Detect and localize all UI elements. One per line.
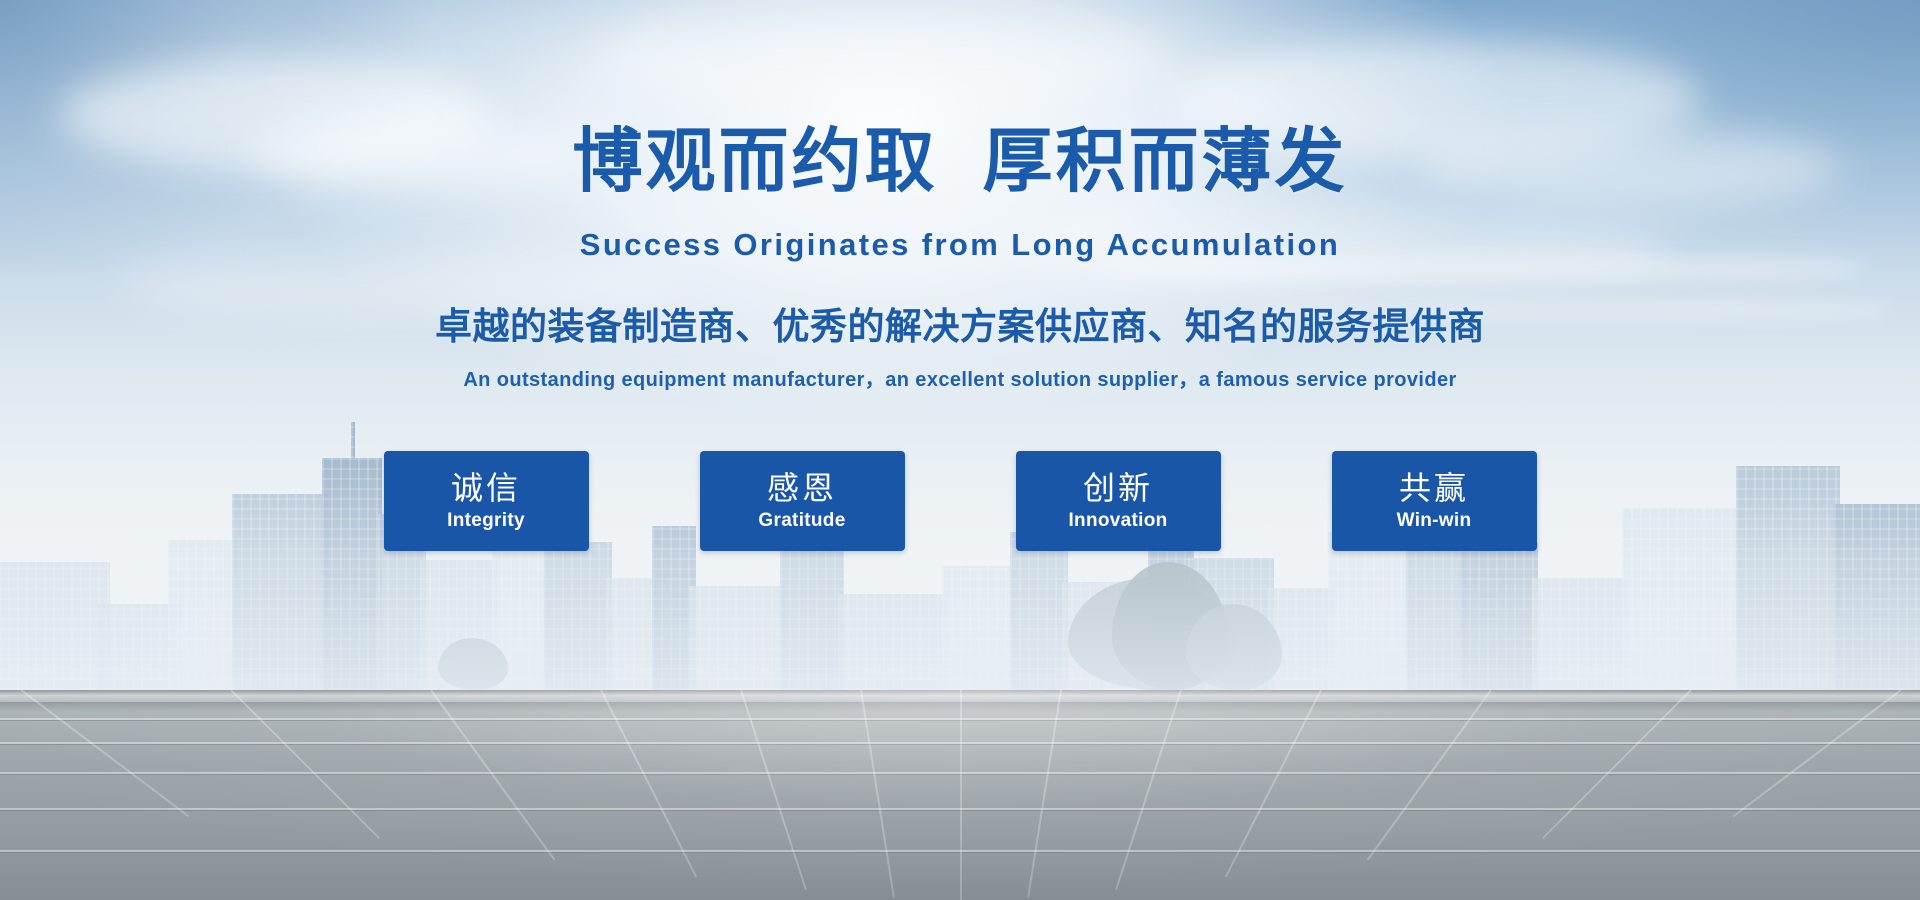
banner-subheadline-en: An outstanding equipment manufacturer，an… [0,370,1920,390]
value-card-label-cn: 创新 [1083,472,1153,504]
value-card-integrity[interactable]: 诚信 Integrity [384,451,589,551]
value-card-label-en: Win-win [1397,511,1472,530]
banner-content: 博观而约取 厚积而薄发 Success Originates from Long… [0,0,1920,900]
value-card-label-en: Innovation [1068,511,1167,530]
value-card-label-cn: 诚信 [451,472,521,504]
banner-subheadline-cn: 卓越的装备制造商、优秀的解决方案供应商、知名的服务提供商 [0,308,1920,345]
value-card-label-en: Gratitude [758,511,845,530]
value-card-winwin[interactable]: 共赢 Win-win [1332,451,1537,551]
value-card-label-en: Integrity [447,511,525,530]
value-card-label-cn: 感恩 [767,472,837,504]
hero-banner: 博观而约取 厚积而薄发 Success Originates from Long… [0,0,1920,900]
core-values-list: 诚信 Integrity 感恩 Gratitude 创新 Innovation … [0,451,1920,551]
banner-headline-cn: 博观而约取 厚积而薄发 [0,126,1920,196]
value-card-label-cn: 共赢 [1399,472,1469,504]
value-card-gratitude[interactable]: 感恩 Gratitude [700,451,905,551]
value-card-innovation[interactable]: 创新 Innovation [1016,451,1221,551]
banner-headline-en: Success Originates from Long Accumulatio… [0,229,1920,260]
